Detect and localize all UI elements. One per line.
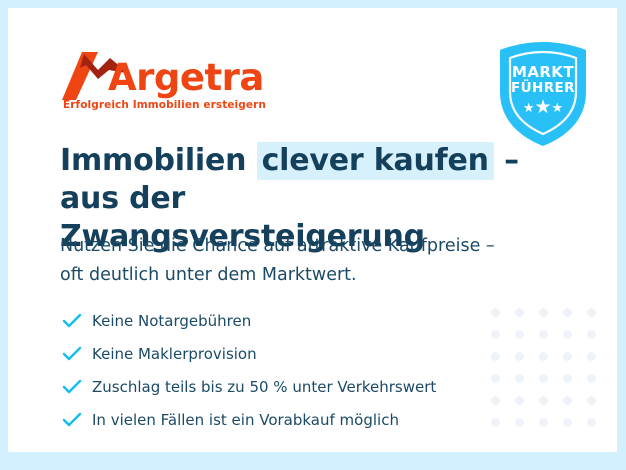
headline-highlight: clever kaufen [257, 142, 494, 180]
dot [563, 396, 572, 405]
list-item-label: Zuschlag teils bis zu 50 % unter Verkehr… [92, 378, 436, 396]
list-item: In vielen Fällen ist ein Vorabkauf mögli… [62, 403, 532, 436]
dot [539, 352, 548, 361]
headline-part-1: Immobilien [60, 143, 257, 178]
dot [587, 308, 596, 317]
logo-wordmark: Argetra [108, 58, 264, 98]
badge-stars: ★★★ [492, 98, 594, 117]
dot [587, 352, 596, 361]
headline-part-2: – [494, 143, 519, 178]
badge-line-1: MARKT [492, 63, 594, 81]
promo-card: Argetra Erfolgreich Immobilien ersteiger… [8, 8, 617, 452]
subtitle-line-2: oft deutlich unter dem Marktwert. [60, 265, 357, 285]
dot [539, 396, 548, 405]
dot [539, 330, 548, 339]
argetra-logo: Argetra Erfolgreich Immobilien ersteiger… [62, 52, 262, 118]
dot [587, 374, 596, 383]
dot [539, 374, 548, 383]
dot [587, 418, 596, 427]
dot [563, 374, 572, 383]
list-item: Zuschlag teils bis zu 50 % unter Verkehr… [62, 370, 532, 403]
subtitle-line-1: Nutzen Sie die Chance auf attraktive Kau… [60, 236, 495, 256]
benefits-list: Keine Notargebühren Keine Maklerprovisio… [62, 304, 532, 436]
market-leader-badge: MARKT FÜHRER ★★★ [492, 40, 594, 148]
dot [563, 352, 572, 361]
check-icon [62, 379, 92, 395]
dot [563, 308, 572, 317]
logo-tagline: Erfolgreich Immobilien ersteigern [63, 99, 266, 111]
list-item-label: Keine Notargebühren [92, 312, 251, 330]
badge-line-2: FÜHRER [492, 80, 594, 96]
dot [587, 330, 596, 339]
list-item: Keine Notargebühren [62, 304, 532, 337]
list-item-label: Keine Maklerprovision [92, 345, 257, 363]
dot [587, 396, 596, 405]
dot [563, 330, 572, 339]
list-item-label: In vielen Fällen ist ein Vorabkauf mögli… [92, 411, 399, 429]
dot [563, 418, 572, 427]
dot [539, 308, 548, 317]
dot [539, 418, 548, 427]
check-icon [62, 313, 92, 329]
page-subtitle: Nutzen Sie die Chance auf attraktive Kau… [60, 232, 530, 290]
list-item: Keine Maklerprovision [62, 337, 532, 370]
check-icon [62, 412, 92, 428]
check-icon [62, 346, 92, 362]
